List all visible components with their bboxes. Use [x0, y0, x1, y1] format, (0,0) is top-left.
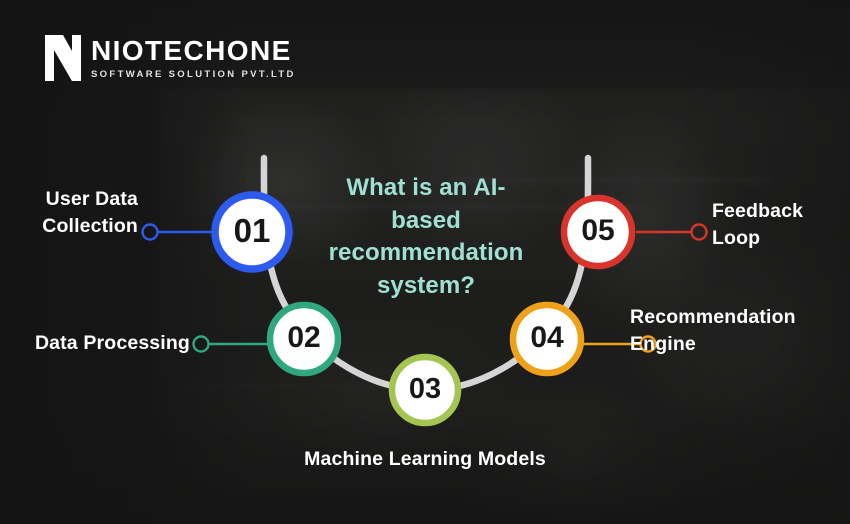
connector-dot-05	[692, 225, 707, 240]
step-label-02: Data Processing	[8, 330, 190, 357]
step-label-04: Recommendation Engine	[630, 304, 850, 358]
step-node-03[interactable]	[392, 357, 458, 423]
brand-text: NIOTECHONE SOFTWARE SOLUTION PVT.LTD	[91, 37, 296, 80]
step-node-05[interactable]	[564, 198, 632, 266]
infographic-canvas: NIOTECHONE SOFTWARE SOLUTION PVT.LTD 01 …	[0, 0, 850, 524]
step-label-01: User Data Collection	[0, 186, 138, 240]
niotechone-n-logo-icon	[44, 33, 82, 83]
step-label-03: Machine Learning Models	[255, 446, 595, 473]
step-node-02[interactable]	[270, 305, 338, 373]
connector-dot-01	[143, 225, 158, 240]
step-node-01[interactable]	[215, 195, 289, 269]
brand-logo: NIOTECHONE SOFTWARE SOLUTION PVT.LTD	[44, 33, 296, 83]
brand-tagline: SOFTWARE SOLUTION PVT.LTD	[91, 70, 296, 80]
brand-name: NIOTECHONE	[91, 37, 296, 65]
center-title: What is an AI-based recommendation syste…	[312, 172, 540, 303]
step-node-04[interactable]	[513, 305, 581, 373]
step-label-05: Feedback Loop	[712, 198, 850, 252]
connector-dot-02	[194, 337, 209, 352]
